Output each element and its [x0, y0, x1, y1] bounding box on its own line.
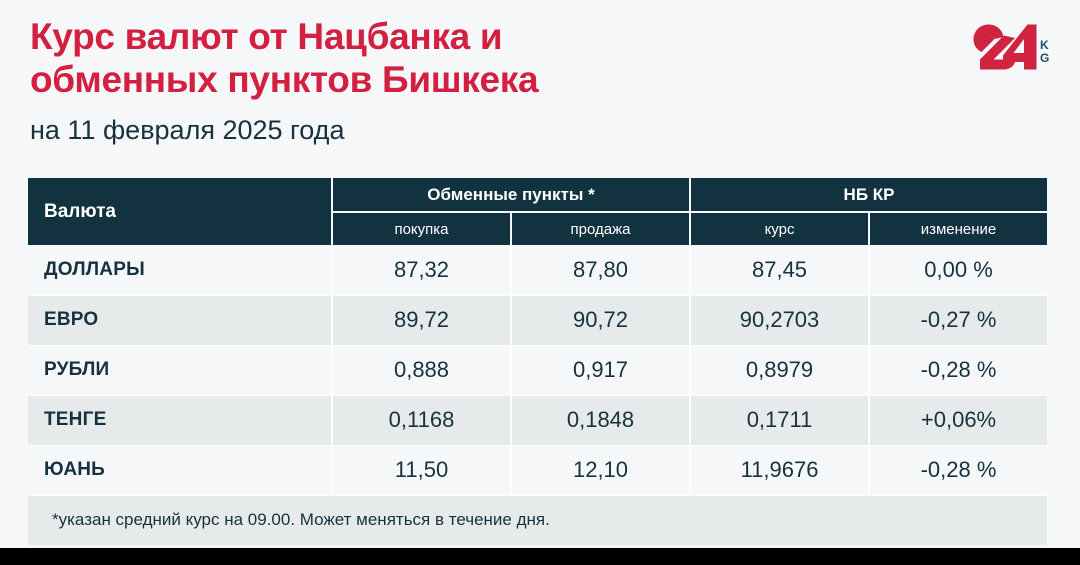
cell-buy: 87,32	[332, 245, 511, 295]
currency-rates-table: Валюта Обменные пункты * НБ КР покупка п…	[28, 178, 1047, 545]
cell-currency: ТЕНГЕ	[28, 395, 332, 445]
cell-rate: 90,2703	[690, 295, 869, 345]
logo-24kg-icon: K G	[972, 22, 1056, 76]
cell-sell: 87,80	[511, 245, 690, 295]
cell-change: -0,28 %	[869, 345, 1047, 395]
cell-change: -0,28 %	[869, 445, 1047, 495]
cell-buy: 0,1168	[332, 395, 511, 445]
table-body: ДОЛЛАРЫ 87,32 87,80 87,45 0,00 % ЕВРО 89…	[28, 245, 1047, 545]
table-row: ТЕНГЕ 0,1168 0,1848 0,1711 +0,06%	[28, 395, 1047, 445]
table-footnote-row: *указан средний курс на 09.00. Может мен…	[28, 495, 1047, 545]
cell-rate: 0,1711	[690, 395, 869, 445]
table-head: Валюта Обменные пункты * НБ КР покупка п…	[28, 178, 1047, 245]
table-row: РУБЛИ 0,888 0,917 0,8979 -0,28 %	[28, 345, 1047, 395]
column-header-currency: Валюта	[28, 178, 332, 245]
cell-currency: РУБЛИ	[28, 345, 332, 395]
column-group-national-bank: НБ КР	[690, 178, 1047, 212]
cell-sell: 0,917	[511, 345, 690, 395]
header-block: Курс валют от Нацбанка и обменных пункто…	[30, 16, 970, 146]
cell-buy: 0,888	[332, 345, 511, 395]
table-header-group-row: Валюта Обменные пункты * НБ КР	[28, 178, 1047, 212]
cell-buy: 89,72	[332, 295, 511, 345]
column-header-buy: покупка	[332, 212, 511, 245]
infographic-page: Курс валют от Нацбанка и обменных пункто…	[0, 0, 1080, 548]
page-subtitle: на 11 февраля 2025 года	[30, 116, 970, 146]
column-header-change: изменение	[869, 212, 1047, 245]
cell-change: 0,00 %	[869, 245, 1047, 295]
cell-change: +0,06%	[869, 395, 1047, 445]
column-group-exchange-offices: Обменные пункты *	[332, 178, 690, 212]
table-row: ЕВРО 89,72 90,72 90,2703 -0,27 %	[28, 295, 1047, 345]
column-header-rate: курс	[690, 212, 869, 245]
table-row: ДОЛЛАРЫ 87,32 87,80 87,45 0,00 %	[28, 245, 1047, 295]
cell-sell: 90,72	[511, 295, 690, 345]
cell-rate: 87,45	[690, 245, 869, 295]
table-footnote: *указан средний курс на 09.00. Может мен…	[28, 495, 1047, 545]
table-row: ЮАНЬ 11,50 12,10 11,9676 -0,28 %	[28, 445, 1047, 495]
cell-currency: ДОЛЛАРЫ	[28, 245, 332, 295]
page-title: Курс валют от Нацбанка и обменных пункто…	[30, 16, 970, 102]
logo-kg-text: K	[1040, 38, 1049, 52]
cell-buy: 11,50	[332, 445, 511, 495]
bottom-bar	[0, 548, 1080, 565]
cell-currency: ЮАНЬ	[28, 445, 332, 495]
logo-24kg[interactable]: K G	[972, 22, 1056, 76]
cell-currency: ЕВРО	[28, 295, 332, 345]
cell-rate: 0,8979	[690, 345, 869, 395]
column-header-sell: продажа	[511, 212, 690, 245]
cell-sell: 0,1848	[511, 395, 690, 445]
logo-kg-text2: G	[1040, 51, 1049, 65]
cell-change: -0,27 %	[869, 295, 1047, 345]
cell-rate: 11,9676	[690, 445, 869, 495]
cell-sell: 12,10	[511, 445, 690, 495]
